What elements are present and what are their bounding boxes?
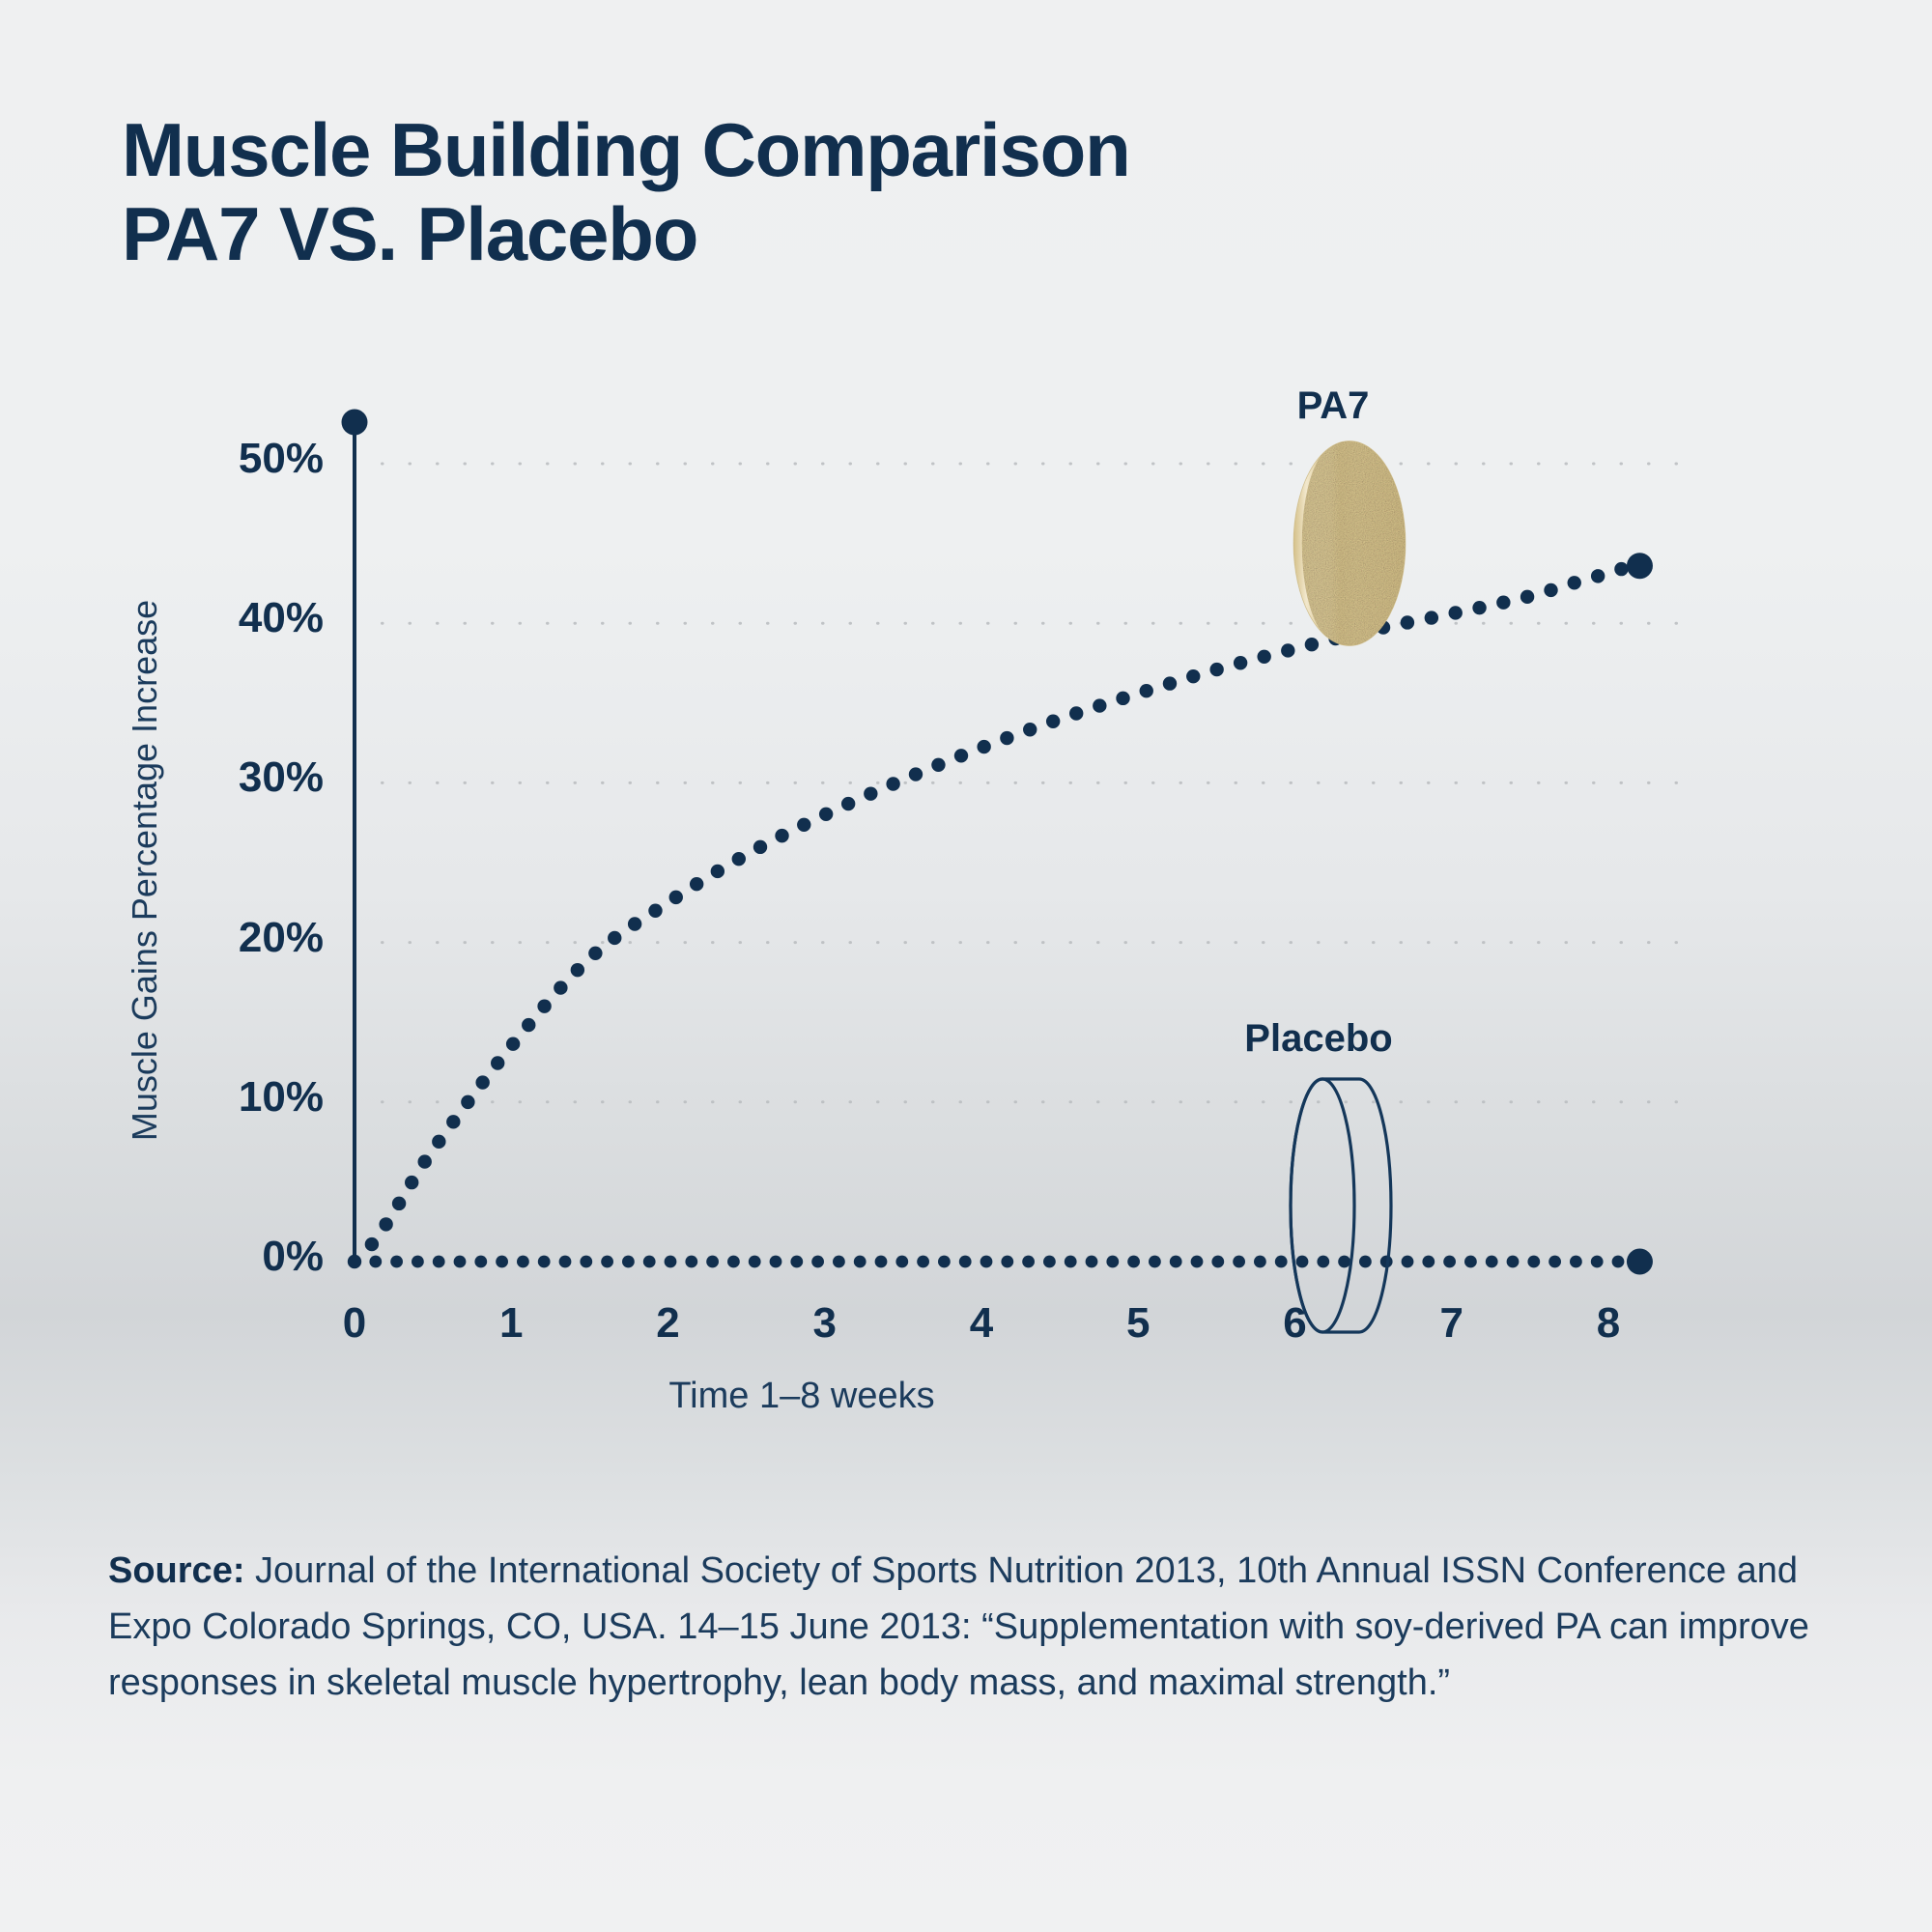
source-text: Journal of the International Society of … xyxy=(108,1550,1809,1703)
y-axis-line xyxy=(342,410,368,1263)
series-label-pa7: PA7 xyxy=(1188,384,1478,428)
source-footnote: Source: Journal of the International Soc… xyxy=(108,1544,1837,1711)
source-label: Source: xyxy=(108,1550,244,1591)
outlined-tablet-icon xyxy=(1288,1075,1394,1336)
series-label-placebo: Placebo xyxy=(1174,1017,1463,1061)
x-tick-label: 7 xyxy=(1413,1299,1491,1348)
y-tick-label: 0% xyxy=(111,1233,324,1281)
x-axis-title: Time 1–8 weeks xyxy=(464,1376,1140,1417)
tan-speckled-tablet-icon xyxy=(1293,440,1406,647)
pa7-tablet-icon xyxy=(1293,440,1406,647)
series-line-placebo xyxy=(349,1249,1653,1275)
y-axis-title: Muscle Gains Percentage Increase xyxy=(125,571,165,1170)
x-tick-label: 2 xyxy=(630,1299,707,1348)
x-tick-label: 5 xyxy=(1099,1299,1177,1348)
x-tick-label: 3 xyxy=(786,1299,864,1348)
y-tick-label: 50% xyxy=(111,435,324,483)
x-tick-label: 1 xyxy=(472,1299,550,1348)
x-tick-label: 0 xyxy=(316,1299,393,1348)
gridlines-group xyxy=(355,464,1700,1102)
series-line-pa7 xyxy=(348,553,1653,1268)
title-line-2: PA7 VS. Placebo xyxy=(122,192,1571,276)
x-tick-label: 8 xyxy=(1570,1299,1647,1348)
placebo-tablet-icon xyxy=(1288,1075,1394,1336)
title-line-1: Muscle Building Comparison xyxy=(122,108,1571,192)
x-tick-label: 4 xyxy=(943,1299,1020,1348)
page-title: Muscle Building Comparison PA7 VS. Place… xyxy=(122,108,1571,277)
